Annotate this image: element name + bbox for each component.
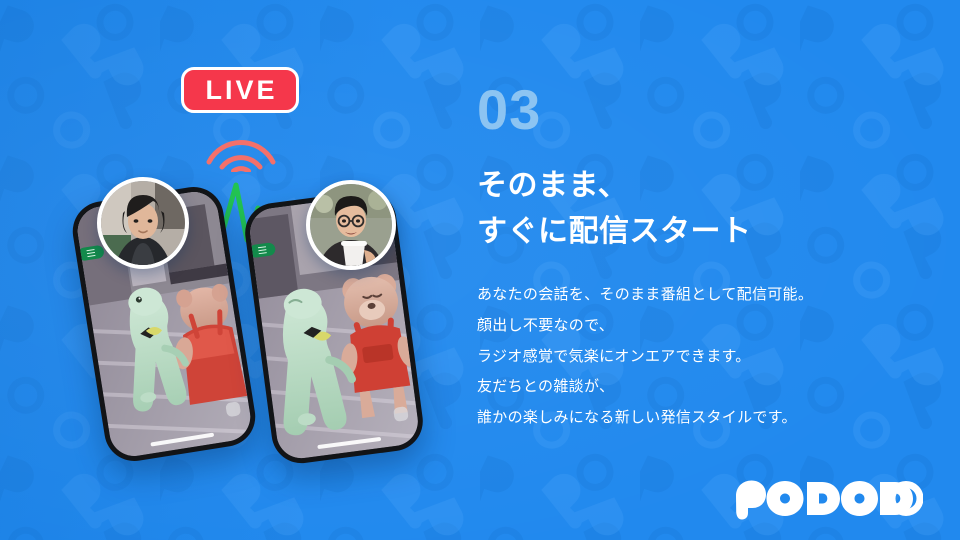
body-line-3: ラジオ感覚で気楽にオンエアできます。	[477, 342, 897, 373]
popopo-logo	[733, 480, 923, 520]
body-line-5: 誰かの楽しみになる新しい発信スタイルです。	[477, 403, 897, 434]
wifi-signal-icon	[205, 126, 277, 172]
body-line-4: 友だちとの雑談が、	[477, 372, 897, 403]
body-description: あなたの会話を、そのまま番組として配信可能。 顔出し不要なので、 ラジオ感覚で気…	[477, 280, 897, 434]
live-badge-label: LIVE	[202, 77, 277, 104]
step-number: 03	[477, 82, 541, 138]
headline-line-1: そのまま、	[477, 163, 907, 209]
slide-canvas: LIVE	[0, 0, 960, 540]
body-line-2: 顔出し不要なので、	[477, 311, 897, 342]
page-title: そのまま、 すぐに配信スタート	[477, 163, 907, 254]
avatar-host-left	[97, 177, 189, 269]
live-badge: LIVE	[181, 67, 299, 113]
headline-line-2: すぐに配信スタート	[477, 209, 907, 255]
phone-mockup-visual: LIVE	[0, 0, 460, 540]
avatar-host-right	[306, 180, 396, 270]
body-line-1: あなたの会話を、そのまま番組として配信可能。	[477, 280, 897, 311]
text-content-column: 03 そのまま、 すぐに配信スタート あなたの会話を、そのまま番組として配信可能…	[477, 0, 947, 540]
camera-toggle-button[interactable]	[393, 406, 409, 422]
